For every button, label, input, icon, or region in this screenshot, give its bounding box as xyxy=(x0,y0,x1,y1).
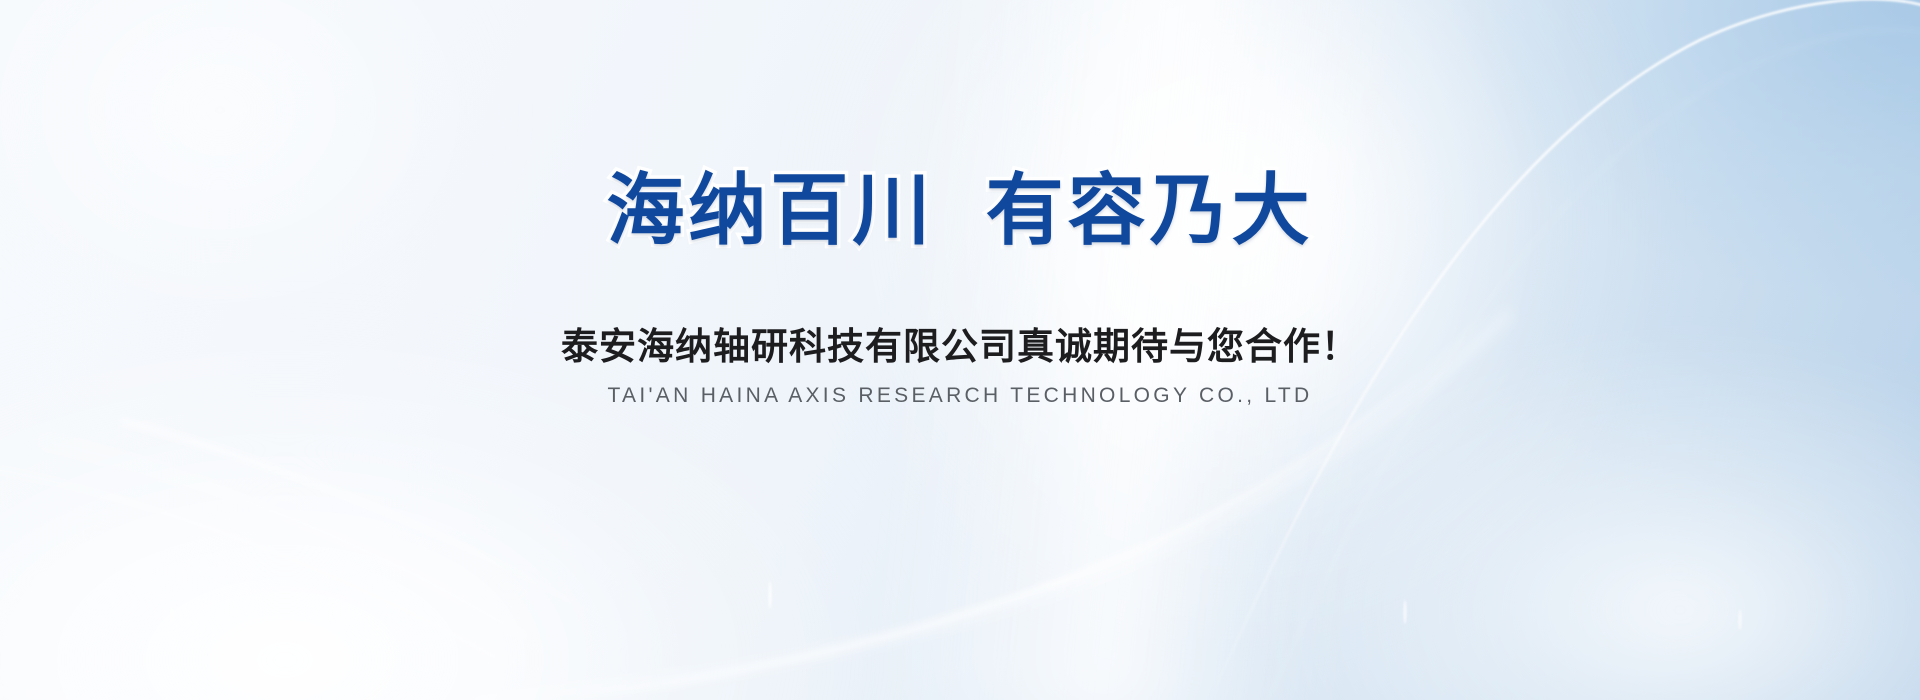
hero-banner: 海纳百川 有容乃大 泰安海纳轴研科技有限公司真诚期待与您合作！ TAI'AN H… xyxy=(0,0,1920,700)
banner-subtitle: 泰安海纳轴研科技有限公司真诚期待与您合作！ xyxy=(561,316,1359,370)
banner-text-block: 海纳百川 有容乃大 泰安海纳轴研科技有限公司真诚期待与您合作！ TAI'AN H… xyxy=(0,0,1920,700)
banner-headline: 海纳百川 有容乃大 xyxy=(606,168,1313,252)
banner-subtitle-english: TAI'AN HAINA AXIS RESEARCH TECHNOLOGY CO… xyxy=(607,384,1312,408)
